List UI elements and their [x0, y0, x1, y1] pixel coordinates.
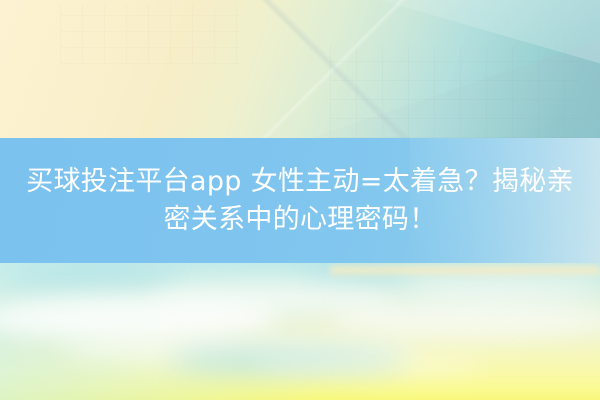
title-banner-band: 买球投注平台app 女性主动=太着急？揭秘亲密关系中的心理密码！: [0, 138, 600, 263]
banner-image: 买球投注平台app 女性主动=太着急？揭秘亲密关系中的心理密码！: [0, 0, 600, 400]
watermark-texture-right: [330, 46, 580, 138]
cloud-shape: [0, 266, 180, 288]
banner-title: 买球投注平台app 女性主动=太着急？揭秘亲密关系中的心理密码！: [24, 163, 576, 239]
cloud-shape: [255, 352, 485, 378]
cloud-shape: [330, 300, 600, 340]
top-gradient-panel: [0, 0, 600, 140]
cloud-shape: [400, 276, 600, 302]
warm-light-streak: [330, 262, 600, 278]
